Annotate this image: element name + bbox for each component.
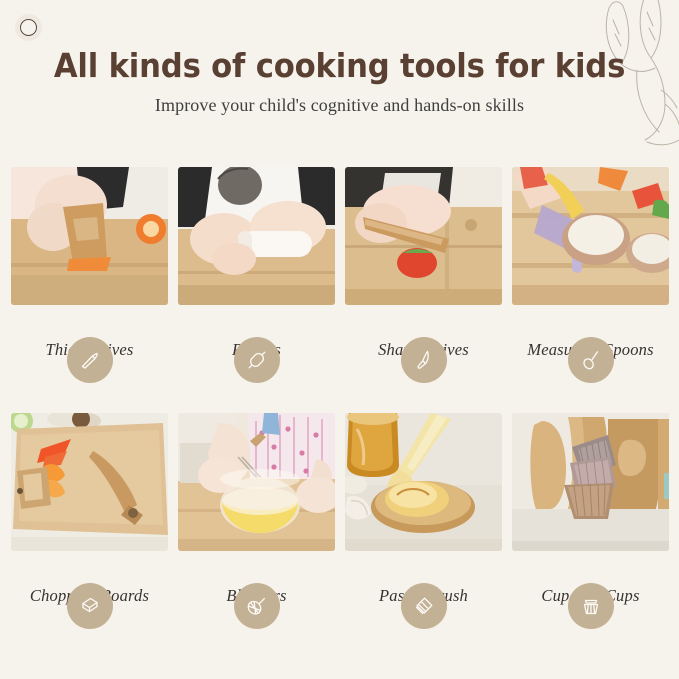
cupcake-cup-icon — [579, 594, 603, 618]
badge-cleaver-knife — [67, 337, 113, 383]
category-photo — [512, 167, 669, 305]
rolling-pin-icon — [245, 348, 269, 372]
badge-chef-knife — [401, 337, 447, 383]
badge-stacked-boards — [67, 583, 113, 629]
photo-sharp-knives — [345, 167, 502, 305]
measuring-spoon-icon — [579, 348, 603, 372]
badge-cupcake-cup — [568, 583, 614, 629]
page-subtitle: Improve your child's cognitive and hands… — [0, 95, 679, 116]
photo-cupcake-cups — [512, 413, 669, 551]
category-card-chopping-boards[interactable]: Chopping Boards — [11, 413, 168, 606]
badge-measuring-spoon — [568, 337, 614, 383]
page-header: All kinds of cooking tools for kids Impr… — [0, 0, 679, 116]
photo-thick-knives — [11, 167, 168, 305]
photo-pastry-brush — [345, 413, 502, 551]
category-photo — [11, 413, 168, 551]
page-title: All kinds of cooking tools for kids — [24, 48, 655, 84]
badge-whisk — [234, 583, 280, 629]
pastry-brush-icon — [412, 594, 436, 618]
photo-rollers — [178, 167, 335, 305]
category-photo — [345, 167, 502, 305]
photo-chopping-boards — [11, 413, 168, 551]
category-card-measuring-spoons[interactable]: Measuring Spoons — [512, 167, 669, 360]
category-row-2: Chopping Boards — [11, 413, 668, 606]
category-photo — [345, 413, 502, 551]
product-category-grid: Thick Knives — [11, 167, 668, 606]
category-card-rollers[interactable]: Rollers — [178, 167, 335, 360]
stacked-boards-icon — [78, 594, 102, 618]
category-photo — [178, 167, 335, 305]
category-photo — [512, 413, 669, 551]
category-row-1: Thick Knives — [11, 167, 668, 360]
chef-knife-icon — [412, 348, 436, 372]
photo-measuring-spoons — [512, 167, 669, 305]
category-photo — [11, 167, 168, 305]
category-card-thick-knives[interactable]: Thick Knives — [11, 167, 168, 360]
badge-pastry-brush — [401, 583, 447, 629]
category-card-pastry-brush[interactable]: Pastry Brush — [345, 413, 502, 606]
category-photo — [178, 413, 335, 551]
category-card-sharp-knives[interactable]: Sharp Knives — [345, 167, 502, 360]
badge-rolling-pin — [234, 337, 280, 383]
category-card-cupcake-cups[interactable]: Cupcake Cups — [512, 413, 669, 606]
category-card-blenders[interactable]: Blenders — [178, 413, 335, 606]
photo-blenders — [178, 413, 335, 551]
whisk-icon — [245, 594, 269, 618]
cleaver-knife-icon — [78, 348, 102, 372]
